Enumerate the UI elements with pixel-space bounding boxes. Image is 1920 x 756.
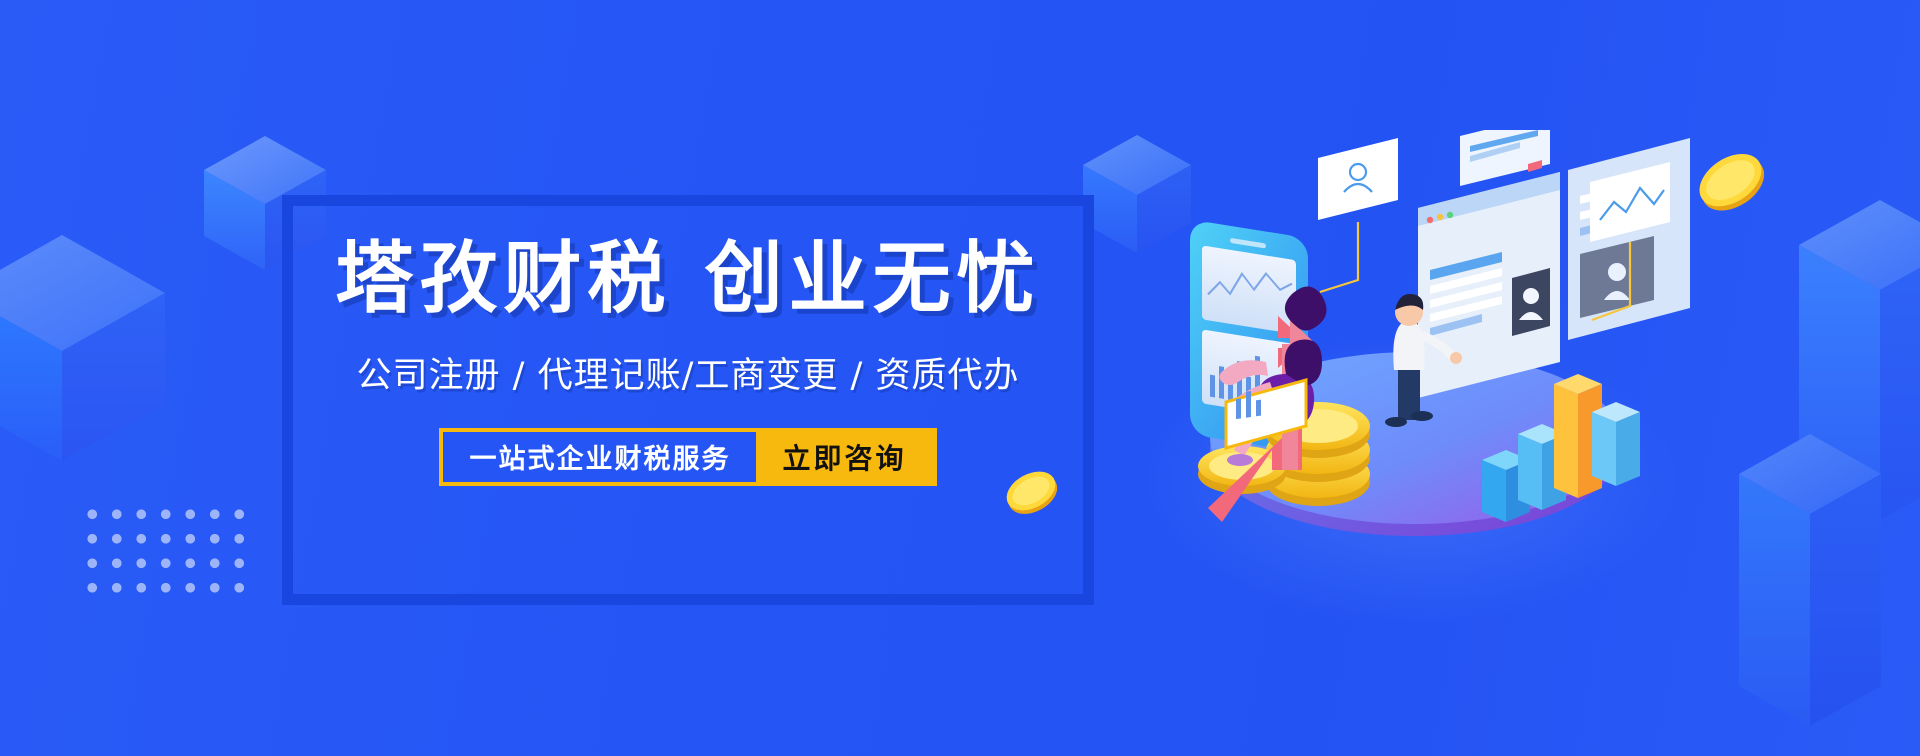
dot-grid-decoration [78, 500, 250, 598]
one-stop-service-tag[interactable]: 一站式企业财税服务 [443, 432, 756, 482]
user-profile-card [1318, 138, 1398, 292]
message-card [1460, 130, 1550, 186]
iso-pillar-right-icon [1795, 195, 1920, 525]
promotional-banner: 塔孜财税 创业无忧 公司注册 / 代理记账/工商变更 / 资质代办 一站式企业财… [0, 0, 1920, 756]
business-finance-illustration [1130, 130, 1710, 550]
consult-now-button[interactable]: 立即咨询 [756, 432, 932, 482]
headline-frame: 塔孜财税 创业无忧 公司注册 / 代理记账/工商变更 / 资质代办 一站式企业财… [282, 195, 1094, 605]
page-title: 塔孜财税 创业无忧 [335, 238, 1040, 321]
dashboard-window [1418, 172, 1560, 398]
iso-pillar-right-lower-icon [1735, 430, 1885, 730]
iso-cube-left-icon [0, 225, 170, 465]
secondary-window [1568, 138, 1690, 340]
services-subtitle: 公司注册 / 代理记账/工商变更 / 资质代办 [357, 347, 1020, 398]
cta-group: 一站式企业财税服务 立即咨询 [439, 428, 936, 486]
